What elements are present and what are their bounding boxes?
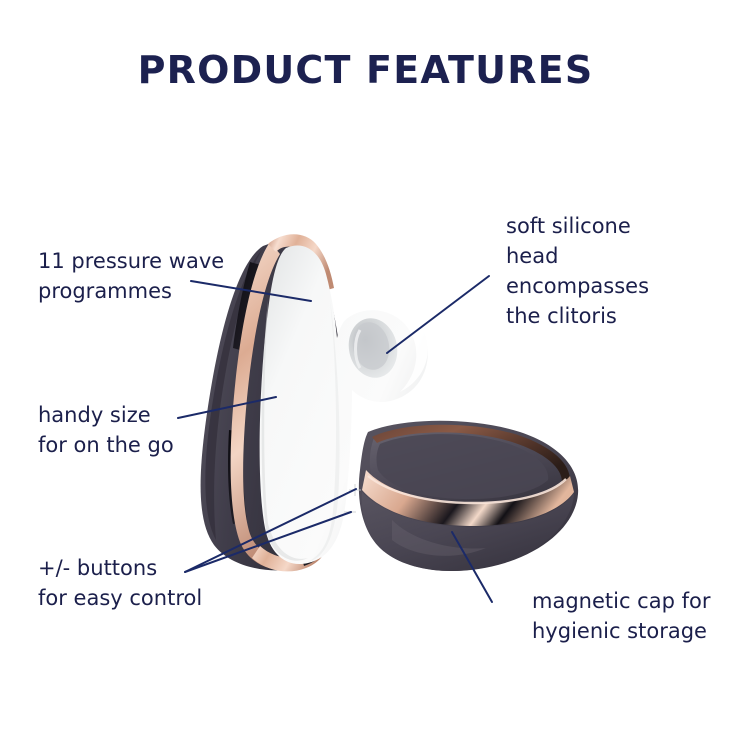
callout-line: magnetic cap for bbox=[532, 586, 710, 616]
callout-line: head bbox=[506, 241, 649, 271]
callout-line: hygienic storage bbox=[532, 616, 710, 646]
page-title: PRODUCT FEATURES bbox=[0, 48, 731, 92]
callout-line: for easy control bbox=[38, 583, 202, 613]
callout-line: programmes bbox=[38, 276, 224, 306]
callout-plus-minus-buttons-for-easy-control: +/- buttons for easy control bbox=[38, 553, 202, 613]
callout-line: handy size bbox=[38, 400, 174, 430]
callout-line: for on the go bbox=[38, 430, 174, 460]
callout-magnetic-cap-for-hygienic-storage: magnetic cap for hygienic storage bbox=[532, 586, 710, 646]
callout-line: encompasses bbox=[506, 271, 649, 301]
callout-handy-size-for-on-the-go: handy size for on the go bbox=[38, 400, 174, 460]
callout-line: +/- buttons bbox=[38, 553, 202, 583]
callout-line: the clitoris bbox=[506, 301, 649, 331]
callout-soft-silicone-head-encompasses-the-clitoris: soft silicone head encompasses the clito… bbox=[506, 211, 649, 331]
callout-line: soft silicone bbox=[506, 211, 649, 241]
callout-11-pressure-wave-programmes: 11 pressure wave programmes bbox=[38, 246, 224, 306]
callout-line: 11 pressure wave bbox=[38, 246, 224, 276]
magnetic-cap bbox=[359, 421, 578, 571]
product-features-infographic: PRODUCT FEATURES 11 pressure wave progra… bbox=[0, 0, 731, 731]
